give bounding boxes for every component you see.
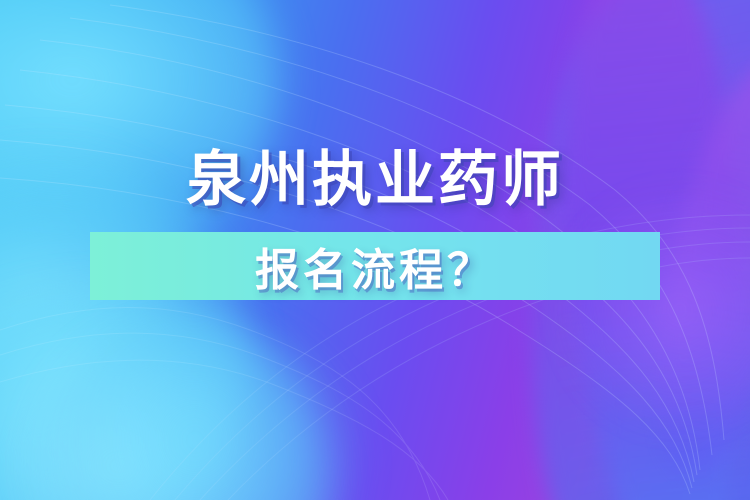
page-subtitle: 报名流程？ — [249, 234, 501, 298]
promo-banner: 泉州执业药师 报名流程？ — [0, 0, 750, 500]
banner-text-block: 泉州执业药师 报名流程？ — [0, 150, 750, 300]
subtitle-highlight-bar: 报名流程？ — [90, 232, 660, 300]
page-title: 泉州执业药师 — [0, 150, 750, 210]
